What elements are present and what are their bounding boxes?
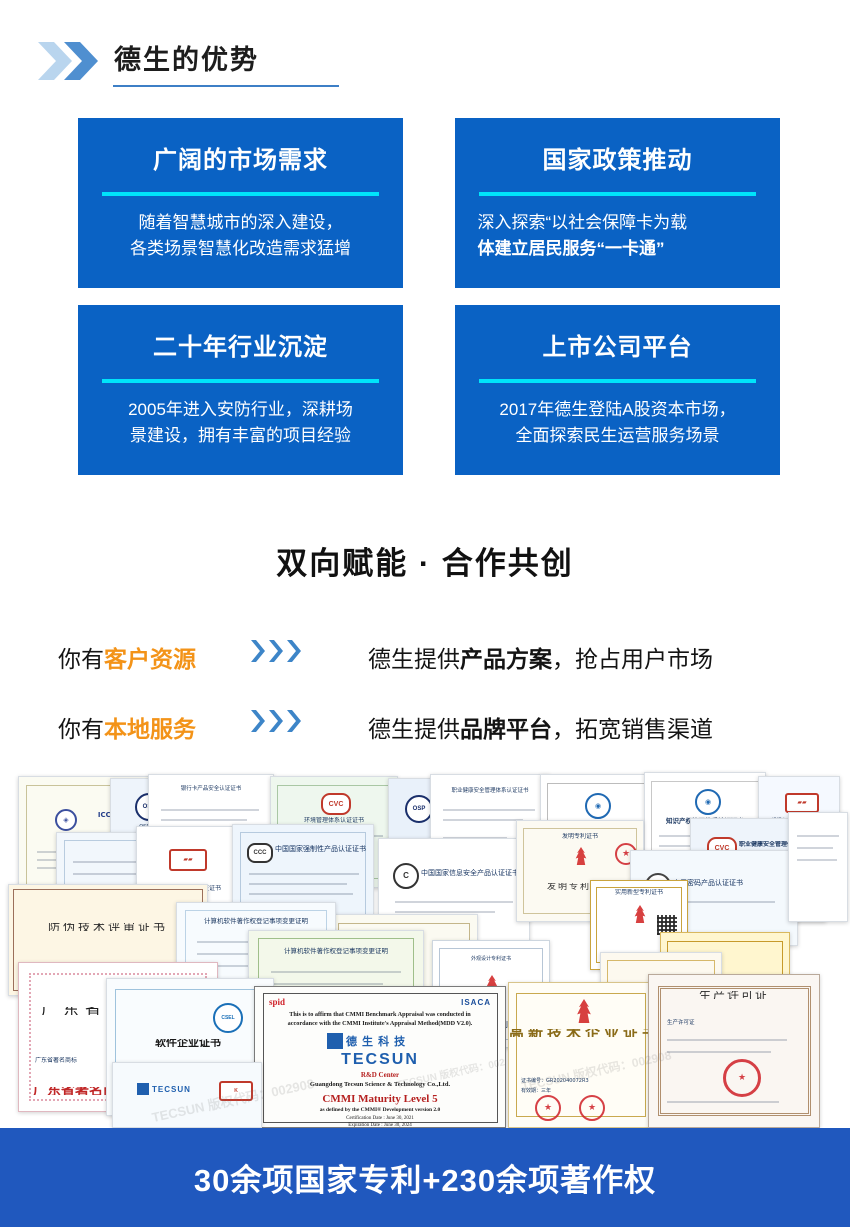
card-divider bbox=[102, 192, 379, 196]
card-body-line: 深入探索“以社会保障卡为载 bbox=[478, 210, 758, 236]
card-title: 国家政策推动 bbox=[455, 146, 780, 176]
certificate-rule bbox=[667, 1051, 771, 1053]
certificate-rule bbox=[797, 847, 833, 849]
tecsun-logo: TECSUN bbox=[137, 1083, 191, 1095]
cmmi-unit: R&D Center bbox=[255, 1071, 505, 1079]
card-body-line: 随着智慧城市的深入建设， bbox=[101, 210, 381, 236]
spid-logo: spid bbox=[269, 997, 285, 1007]
empower-left-text: 你有本地服务 bbox=[58, 714, 196, 744]
certificate-seal-icon bbox=[535, 1095, 561, 1121]
page-title: 德生的优势 bbox=[114, 39, 259, 81]
certificate-label: 银行卡产品安全认证证书 bbox=[149, 785, 273, 793]
bottom-banner-text: 30余项国家专利+230余项著作权 bbox=[194, 1155, 656, 1200]
certificate-rule bbox=[249, 893, 353, 895]
cmmi-standard: as defined by the CMMI® Development vers… bbox=[255, 1107, 505, 1113]
title-underline bbox=[113, 85, 339, 87]
certificate-item: 生产许可证 生产许可证 bbox=[648, 974, 820, 1128]
certificate-sub-label: 生产许可证 bbox=[667, 1019, 819, 1027]
chevron-group-icon bbox=[38, 42, 108, 80]
card-body-line: 体建立居民服务“一卡通” bbox=[478, 236, 758, 262]
certificate-item: 高新技术企业证书 证书编号：GR202040072R3 有效期：三年 bbox=[508, 982, 654, 1128]
advantage-card-market-demand: 广阔的市场需求 随着智慧城市的深入建设， 各类场景智慧化改造需求猛增 bbox=[78, 118, 403, 288]
empower-left-highlight: 本地服务 bbox=[104, 716, 196, 742]
cmmi-certification-date: Certification Date : June 30, 2021 bbox=[255, 1116, 505, 1121]
certificate-collage: ◈ ICCR 集成电路卡认证书 OSP OSPRO AAA 银行卡产品安全认证证… bbox=[0, 762, 850, 1128]
empower-section-title: 双向赋能 · 合作共创 bbox=[0, 538, 850, 583]
csel-csia-badge-icon: CSEL bbox=[213, 1003, 243, 1033]
card-title: 广阔的市场需求 bbox=[78, 146, 403, 176]
chevron-right-icon bbox=[268, 710, 284, 732]
chevron-right-icon bbox=[286, 640, 302, 662]
certificate-rule bbox=[249, 873, 359, 875]
certificate-item: TECSUN K bbox=[112, 1062, 262, 1128]
card-divider bbox=[479, 192, 756, 196]
certificate-rule bbox=[395, 911, 495, 913]
empower-row: 你有客户资源 德生提供产品方案，抢占用户市场 bbox=[0, 630, 850, 688]
certificate-title: 生产许可证 bbox=[649, 991, 819, 999]
advantage-card-national-policy: 国家政策推动 深入探索“以社会保障卡为载 体建立居民服务“一卡通” bbox=[455, 118, 780, 288]
empower-right-bold: 产品方案 bbox=[460, 646, 552, 672]
advantage-card-listed-company: 上市公司平台 2017年德生登陆A股资本市场， 全面探索民生运营服务场景 bbox=[455, 305, 780, 475]
card-body-line: 景建设，拥有丰富的项目经验 bbox=[101, 423, 381, 449]
card-divider bbox=[102, 379, 379, 383]
card-divider bbox=[479, 379, 756, 383]
certificate-seal-icon bbox=[579, 1095, 605, 1121]
cmmi-legal-name: Guangdong Tecsun Science & Technology Co… bbox=[255, 1081, 505, 1088]
section-header: 德生的优势 bbox=[0, 0, 850, 108]
certificate-badge-icon: ▰▰ bbox=[169, 849, 207, 871]
card-title: 上市公司平台 bbox=[455, 333, 780, 363]
card-body-line-text: 深入探索“以社会保障卡为载 bbox=[478, 213, 688, 232]
certificate-validity: 有效期：三年 bbox=[521, 1087, 653, 1095]
chevron-right-icon bbox=[250, 710, 266, 732]
tecsun-square-icon bbox=[137, 1083, 149, 1095]
certificate-label: 外观设计专利证书 bbox=[433, 955, 549, 963]
certificate-title: 软件企业证书 bbox=[155, 1039, 265, 1047]
card-body: 随着智慧城市的深入建设， 各类场景智慧化改造需求猛增 bbox=[101, 210, 381, 262]
certificate-rule bbox=[271, 983, 383, 985]
cmmi-statement-line-1: This is to affirm that CMMI Benchmark Ap… bbox=[255, 1011, 505, 1018]
certificate-rule bbox=[675, 901, 775, 903]
card-title: 二十年行业沉淀 bbox=[78, 333, 403, 363]
card-body: 2017年德生登陆A股资本市场， 全面探索民生运营服务场景 bbox=[478, 397, 758, 449]
certificate-badge-icon: ◉ bbox=[585, 793, 611, 819]
empower-left-text: 你有客户资源 bbox=[58, 644, 196, 674]
card-body: 2005年进入安防行业，深耕场 景建设，拥有丰富的项目经验 bbox=[101, 397, 381, 449]
certificate-label: 实用新型专利证书 bbox=[591, 889, 687, 897]
certificate-label: 中国国家信息安全产品认证证书 bbox=[421, 869, 523, 877]
kingsoft-badge-icon: K bbox=[219, 1081, 253, 1101]
certificate-label: 计算机软件著作权登记事项变更证明 bbox=[177, 917, 335, 925]
arrow-group-icon bbox=[250, 640, 302, 662]
tecsun-logo-cn: 德 生 科 技 bbox=[346, 1033, 406, 1049]
chevron-right-icon bbox=[268, 640, 284, 662]
empower-left-prefix: 你有 bbox=[58, 716, 104, 742]
empower-rows: 你有客户资源 德生提供产品方案，抢占用户市场 你有本地服务 德生提供品牌平台，拓… bbox=[0, 630, 850, 758]
isaca-logo: ISACA bbox=[461, 998, 491, 1007]
tecsun-square-icon bbox=[327, 1033, 343, 1049]
certificate-item bbox=[788, 812, 848, 922]
certificate-title: 高新技术企业证书 bbox=[509, 1029, 653, 1037]
card-body-line: 各类场景智慧化改造需求猛增 bbox=[101, 236, 381, 262]
bottom-banner: 30余项国家专利+230余项著作权 bbox=[0, 1128, 850, 1227]
cmmi-statement-line-2: accordance with the CMMI Institute's App… bbox=[255, 1020, 505, 1027]
certificate-rule bbox=[667, 1039, 787, 1041]
certificate-badge-icon: ◉ bbox=[695, 789, 721, 815]
empower-right-text: 德生提供品牌平台，拓宽销售渠道 bbox=[368, 714, 713, 744]
certificate-badge-icon: CCC bbox=[247, 843, 273, 863]
certificate-rule bbox=[797, 859, 837, 861]
card-body: 深入探索“以社会保障卡为载 体建立居民服务“一卡通” bbox=[478, 210, 758, 262]
certificate-badge-icon: CVC bbox=[321, 793, 351, 815]
certificate-label: 发明专利证书 bbox=[517, 833, 643, 841]
certificate-rule bbox=[161, 809, 259, 811]
card-body-line: 2017年德生登陆A股资本市场， bbox=[478, 397, 758, 423]
empower-left-highlight: 客户资源 bbox=[104, 646, 196, 672]
certificate-label: 计算机软件著作权登记事项变更证明 bbox=[249, 947, 423, 955]
certificate-rule bbox=[249, 883, 347, 885]
chevron-right-icon bbox=[286, 710, 302, 732]
certificate-rule bbox=[443, 819, 523, 821]
certificate-rule bbox=[797, 835, 839, 837]
certificate-label: 商用密码产品认证证书 bbox=[673, 879, 791, 887]
card-body-line-text-bold: 体建立居民服务“一卡通” bbox=[478, 239, 665, 258]
chevron-right-icon bbox=[250, 640, 266, 662]
card-body-line: 2005年进入安防行业，深耕场 bbox=[101, 397, 381, 423]
tecsun-logo-en: TECSUN bbox=[152, 1085, 191, 1094]
empower-right-suffix: ，拓宽销售渠道 bbox=[552, 716, 713, 742]
empower-left-prefix: 你有 bbox=[58, 646, 104, 672]
certificate-rule bbox=[161, 819, 247, 821]
certificate-rule bbox=[271, 971, 401, 973]
empower-right-prefix: 德生提供 bbox=[368, 646, 460, 672]
empower-right-prefix: 德生提供 bbox=[368, 716, 460, 742]
certificate-label: 职业健康安全管理体系认证证书 bbox=[431, 787, 549, 795]
empower-row: 你有本地服务 德生提供品牌平台，拓宽销售渠道 bbox=[0, 700, 850, 758]
empower-right-bold: 品牌平台 bbox=[460, 716, 552, 742]
certificate-rule bbox=[667, 1101, 779, 1103]
arrow-group-icon bbox=[250, 710, 302, 732]
empower-right-text: 德生提供产品方案，抢占用户市场 bbox=[368, 644, 713, 674]
empower-right-suffix: ，抢占用户市场 bbox=[552, 646, 713, 672]
certificate-rule bbox=[395, 901, 513, 903]
certificate-badge-icon: C bbox=[393, 863, 419, 889]
tecsun-logo: 德 生 科 技 bbox=[327, 1033, 406, 1049]
certificate-rule bbox=[443, 809, 535, 811]
certificate-badge-icon: OSP bbox=[405, 795, 433, 823]
advantage-card-industry-experience: 二十年行业沉淀 2005年进入安防行业，深耕场 景建设，拥有丰富的项目经验 bbox=[78, 305, 403, 475]
certificate-badge-icon: ▰▰ bbox=[785, 793, 819, 813]
tecsun-logo-en: TECSUN bbox=[255, 1051, 505, 1069]
cmmi-level: CMMI Maturity Level 5 bbox=[255, 1093, 505, 1105]
certificate-seal-icon bbox=[723, 1059, 761, 1097]
certificate-item-cmmi: spid ISACA This is to affirm that CMMI B… bbox=[254, 986, 506, 1128]
certificate-label: 中国国家强制性产品认证证书 bbox=[275, 845, 367, 853]
certificate-number: 证书编号：GR202040072R3 bbox=[521, 1077, 653, 1085]
card-body-line: 全面探索民生运营服务场景 bbox=[478, 423, 758, 449]
